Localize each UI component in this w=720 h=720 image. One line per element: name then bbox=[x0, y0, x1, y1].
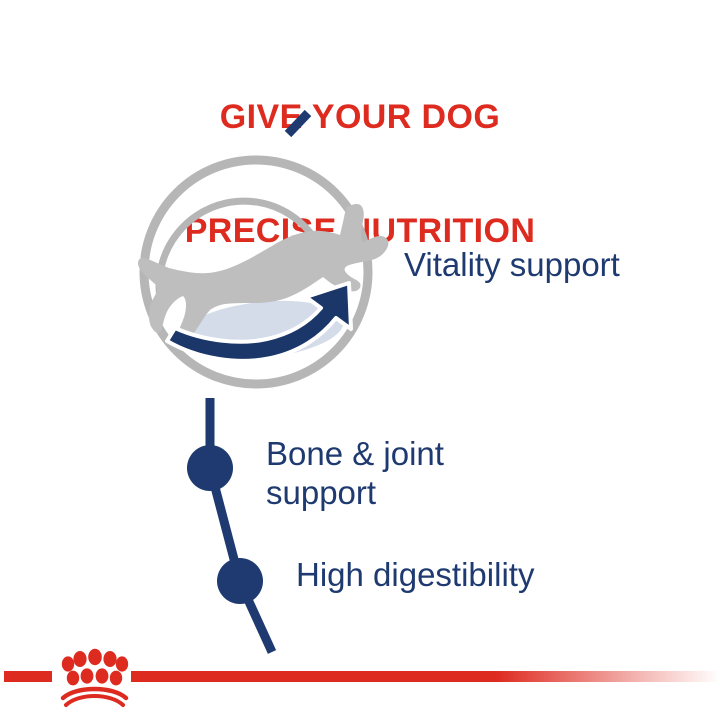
promo-infographic-canvas: GIVE YOUR DOG PRECISE NUTRITION bbox=[0, 0, 720, 720]
feature-label-vitality: Vitality support bbox=[404, 246, 620, 285]
feature-label-digestibility: High digestibility bbox=[296, 556, 534, 595]
feature-label-bone-joint: Bone & joint support bbox=[266, 435, 444, 513]
node-dot-bone-joint-icon bbox=[187, 445, 233, 491]
jumping-dog-circle-icon bbox=[138, 160, 388, 384]
infographic-artwork bbox=[0, 0, 720, 720]
royal-canin-crown-logo bbox=[62, 649, 128, 705]
brand-bar-right-segment bbox=[131, 671, 720, 682]
connector-top-tick-icon bbox=[288, 113, 308, 134]
brand-bar-left-segment bbox=[4, 671, 52, 682]
node-dot-digestibility-icon bbox=[217, 558, 263, 604]
connector-line-path bbox=[210, 398, 272, 652]
